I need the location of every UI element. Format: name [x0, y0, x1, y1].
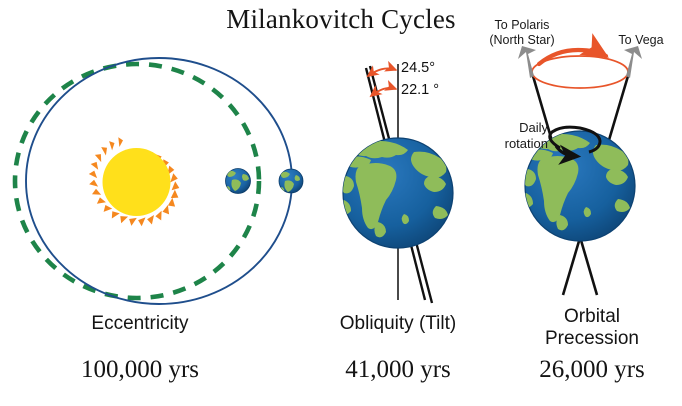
obliquity-angle-min-label: 22.1 ° — [401, 82, 439, 98]
milankovitch-cycles-figure: Milankovitch Cycles — [0, 0, 682, 406]
earth-globe-on-elliptical-orbit — [279, 169, 303, 193]
earth-globe-obliquity — [340, 138, 453, 248]
daily-rotation-label-line2: rotation — [476, 137, 548, 152]
precession-diagram — [518, 46, 642, 295]
polaris-label-line2: (North Star) — [474, 33, 570, 47]
period-obliquity: 41,000 yrs — [288, 356, 508, 384]
vega-label: To Vega — [606, 33, 676, 47]
caption-eccentricity: Eccentricity — [25, 313, 255, 335]
caption-precession-line2: Precession — [512, 328, 672, 350]
vega-direction-arrow — [624, 46, 642, 78]
sun-icon — [89, 137, 179, 226]
angle-arc-22-1 — [371, 88, 396, 96]
eccentricity-diagram — [15, 58, 303, 304]
daily-rotation-label-line1: Daily — [476, 121, 548, 136]
obliquity-angle-max-label: 24.5° — [401, 60, 435, 76]
earth-globe-on-circular-orbit — [225, 169, 251, 194]
polaris-label-line1: To Polaris — [474, 18, 570, 32]
caption-precession-line1: Orbital — [512, 306, 672, 328]
obliquity-diagram — [340, 64, 453, 303]
period-precession: 26,000 yrs — [512, 356, 672, 384]
caption-obliquity: Obliquity (Tilt) — [288, 313, 508, 335]
precession-circle-arrow — [532, 50, 628, 88]
period-eccentricity: 100,000 yrs — [25, 356, 255, 384]
polaris-direction-arrow — [518, 46, 536, 78]
